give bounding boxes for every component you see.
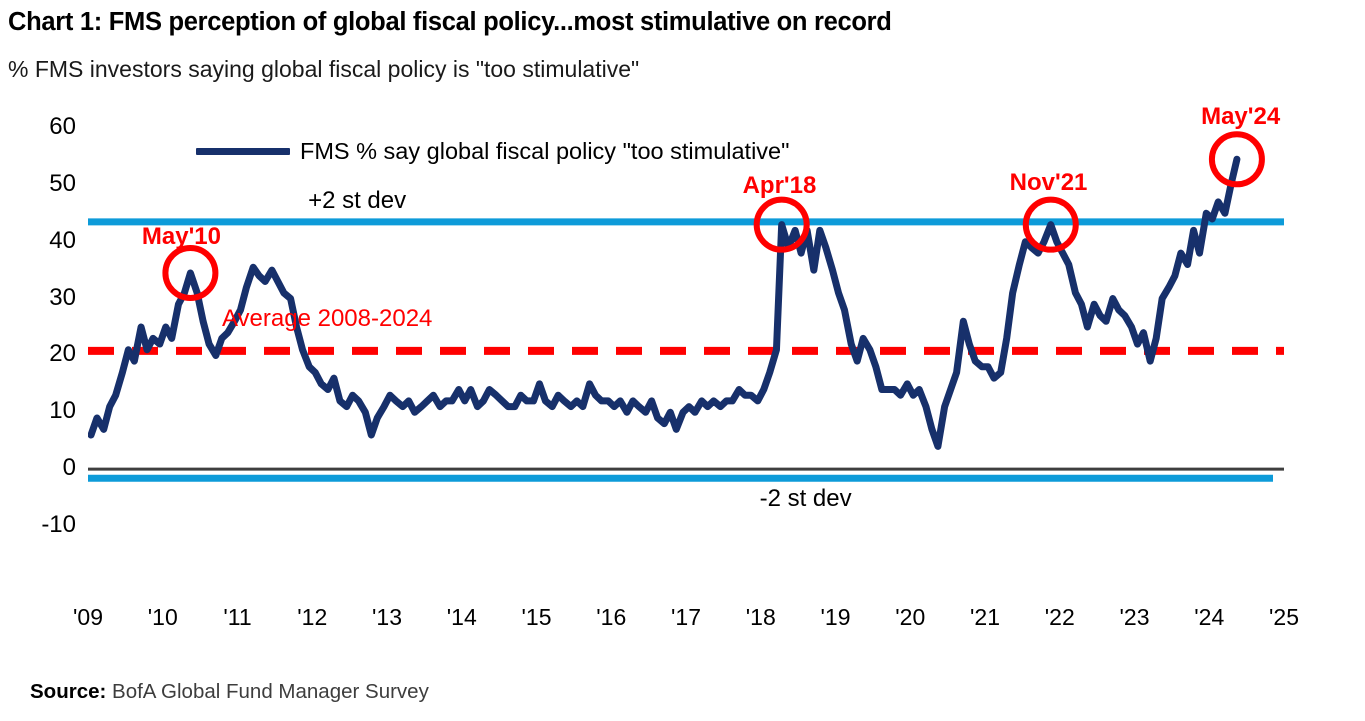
y-tick-label: 20 bbox=[14, 340, 76, 368]
annotation-label-may-10: May'10 bbox=[142, 223, 221, 251]
x-tick-label: '24 bbox=[1194, 604, 1224, 631]
source-line: Source: BofA Global Fund Manager Survey bbox=[30, 680, 429, 704]
x-tick-label: '25 bbox=[1269, 604, 1299, 631]
x-tick-label: '13 bbox=[372, 604, 402, 631]
reference-line-label--2-st-dev: -2 st dev bbox=[760, 485, 852, 513]
y-tick-label: 0 bbox=[14, 454, 76, 482]
annotation-label-may-24: May'24 bbox=[1201, 103, 1280, 131]
x-tick-label: '19 bbox=[821, 604, 851, 631]
x-tick-label: '12 bbox=[297, 604, 327, 631]
source-text: BofA Global Fund Manager Survey bbox=[112, 680, 429, 703]
y-tick-label: 50 bbox=[14, 170, 76, 198]
y-tick-label: 30 bbox=[14, 284, 76, 312]
y-tick-label: 10 bbox=[14, 397, 76, 425]
page-title: Chart 1: FMS perception of global fiscal… bbox=[8, 8, 1348, 37]
annotation-label-apr-18: Apr'18 bbox=[743, 172, 817, 200]
x-tick-label: '17 bbox=[671, 604, 701, 631]
reference-line-label--2-st-dev: +2 st dev bbox=[308, 187, 406, 215]
source-label: Source: bbox=[30, 680, 106, 703]
x-tick-label: '15 bbox=[522, 604, 552, 631]
y-tick-label: -10 bbox=[14, 511, 76, 539]
chart-legend: FMS % say global fiscal policy "too stim… bbox=[196, 138, 789, 165]
y-tick-label: 60 bbox=[14, 113, 76, 141]
page-subtitle: % FMS investors saying global fiscal pol… bbox=[8, 56, 1348, 82]
x-tick-label: '16 bbox=[596, 604, 626, 631]
x-tick-label: '09 bbox=[73, 604, 103, 631]
x-tick-label: '11 bbox=[223, 604, 251, 631]
y-tick-label: 40 bbox=[14, 227, 76, 255]
x-tick-label: '18 bbox=[746, 604, 776, 631]
x-tick-label: '10 bbox=[148, 604, 178, 631]
annotation-label-nov-21: Nov'21 bbox=[1010, 169, 1088, 197]
x-tick-label: '20 bbox=[895, 604, 925, 631]
x-tick-label: '21 bbox=[970, 604, 1000, 631]
x-tick-label: '14 bbox=[447, 604, 477, 631]
reference-line-label-average-2008-2024: Average 2008-2024 bbox=[222, 305, 432, 333]
legend-swatch-series-navy bbox=[196, 148, 290, 155]
x-tick-label: '23 bbox=[1120, 604, 1150, 631]
x-tick-label: '22 bbox=[1045, 604, 1075, 631]
legend-label-series: FMS % say global fiscal policy "too stim… bbox=[300, 138, 789, 165]
chart-page: Chart 1: FMS perception of global fiscal… bbox=[0, 0, 1365, 721]
